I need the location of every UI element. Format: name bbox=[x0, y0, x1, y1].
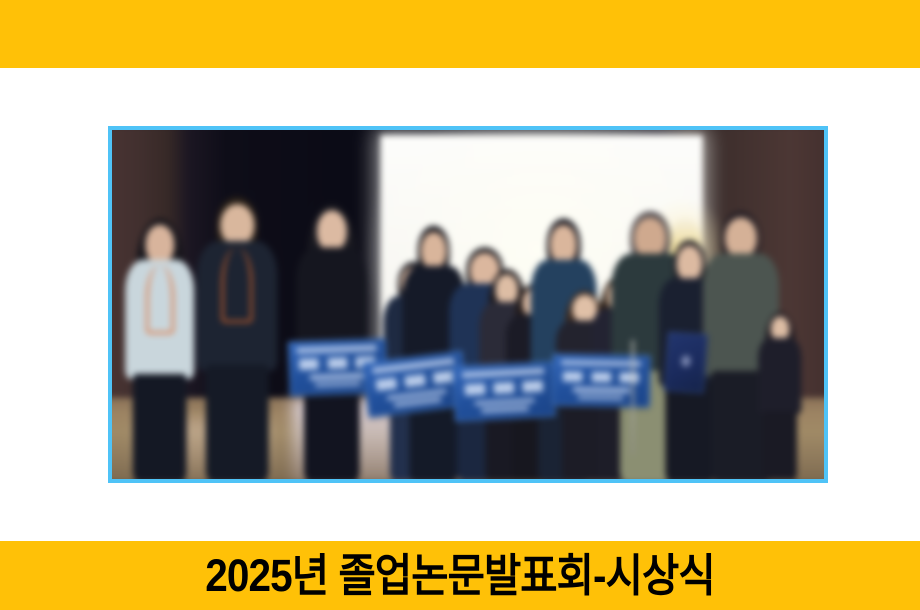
top-accent-band bbox=[0, 0, 920, 68]
placard-title-line bbox=[461, 368, 544, 378]
placard-name-box bbox=[493, 382, 514, 395]
placard-footer-line bbox=[481, 406, 529, 413]
person-figure bbox=[125, 218, 195, 477]
legs bbox=[206, 365, 269, 483]
placard-name-row bbox=[563, 371, 639, 383]
photo-frame[interactable] bbox=[108, 126, 828, 483]
person-figure bbox=[758, 312, 802, 477]
lanyard-icon bbox=[146, 265, 174, 334]
placard-name-box bbox=[299, 359, 319, 371]
placard-name-box bbox=[522, 380, 543, 393]
group-photo bbox=[108, 126, 828, 483]
torso bbox=[758, 338, 802, 414]
placard-name-box bbox=[375, 377, 397, 391]
slide-caption: 2025년 졸업논문발표회-시상식 bbox=[46, 541, 874, 610]
placard-subtitle-line bbox=[572, 388, 629, 394]
slide-root: 2025년 졸업논문발표회-시상식 bbox=[0, 0, 920, 610]
placard-name-box bbox=[591, 372, 611, 383]
legs bbox=[132, 374, 186, 483]
placard-name-box bbox=[619, 372, 639, 383]
placard-subtitle-line bbox=[309, 374, 366, 381]
face bbox=[549, 225, 577, 264]
face bbox=[420, 232, 446, 270]
placard-footer-line bbox=[394, 397, 442, 407]
placard-subtitle-line bbox=[475, 398, 535, 406]
face bbox=[220, 204, 254, 246]
lanyard-icon bbox=[221, 247, 253, 322]
person-figure bbox=[197, 197, 278, 477]
walking-cane-icon bbox=[632, 340, 634, 455]
placard-name-box bbox=[563, 371, 583, 382]
placard-title-line bbox=[561, 360, 641, 367]
placard-name-row bbox=[464, 380, 544, 396]
placard-name-box bbox=[464, 383, 485, 396]
face bbox=[145, 225, 174, 264]
award-placard bbox=[452, 361, 556, 422]
folder-seal-icon bbox=[681, 356, 691, 368]
placard-footer-line bbox=[315, 382, 361, 388]
face bbox=[770, 316, 788, 341]
certificate-folder bbox=[664, 332, 708, 394]
face bbox=[725, 218, 757, 258]
placard-name-box bbox=[327, 358, 347, 370]
face bbox=[677, 246, 703, 282]
legs bbox=[763, 411, 797, 480]
placard-footer-line bbox=[578, 395, 624, 400]
award-placard bbox=[552, 354, 650, 408]
face bbox=[316, 211, 346, 252]
placard-name-box bbox=[404, 374, 426, 388]
placard-title-line bbox=[296, 345, 376, 354]
